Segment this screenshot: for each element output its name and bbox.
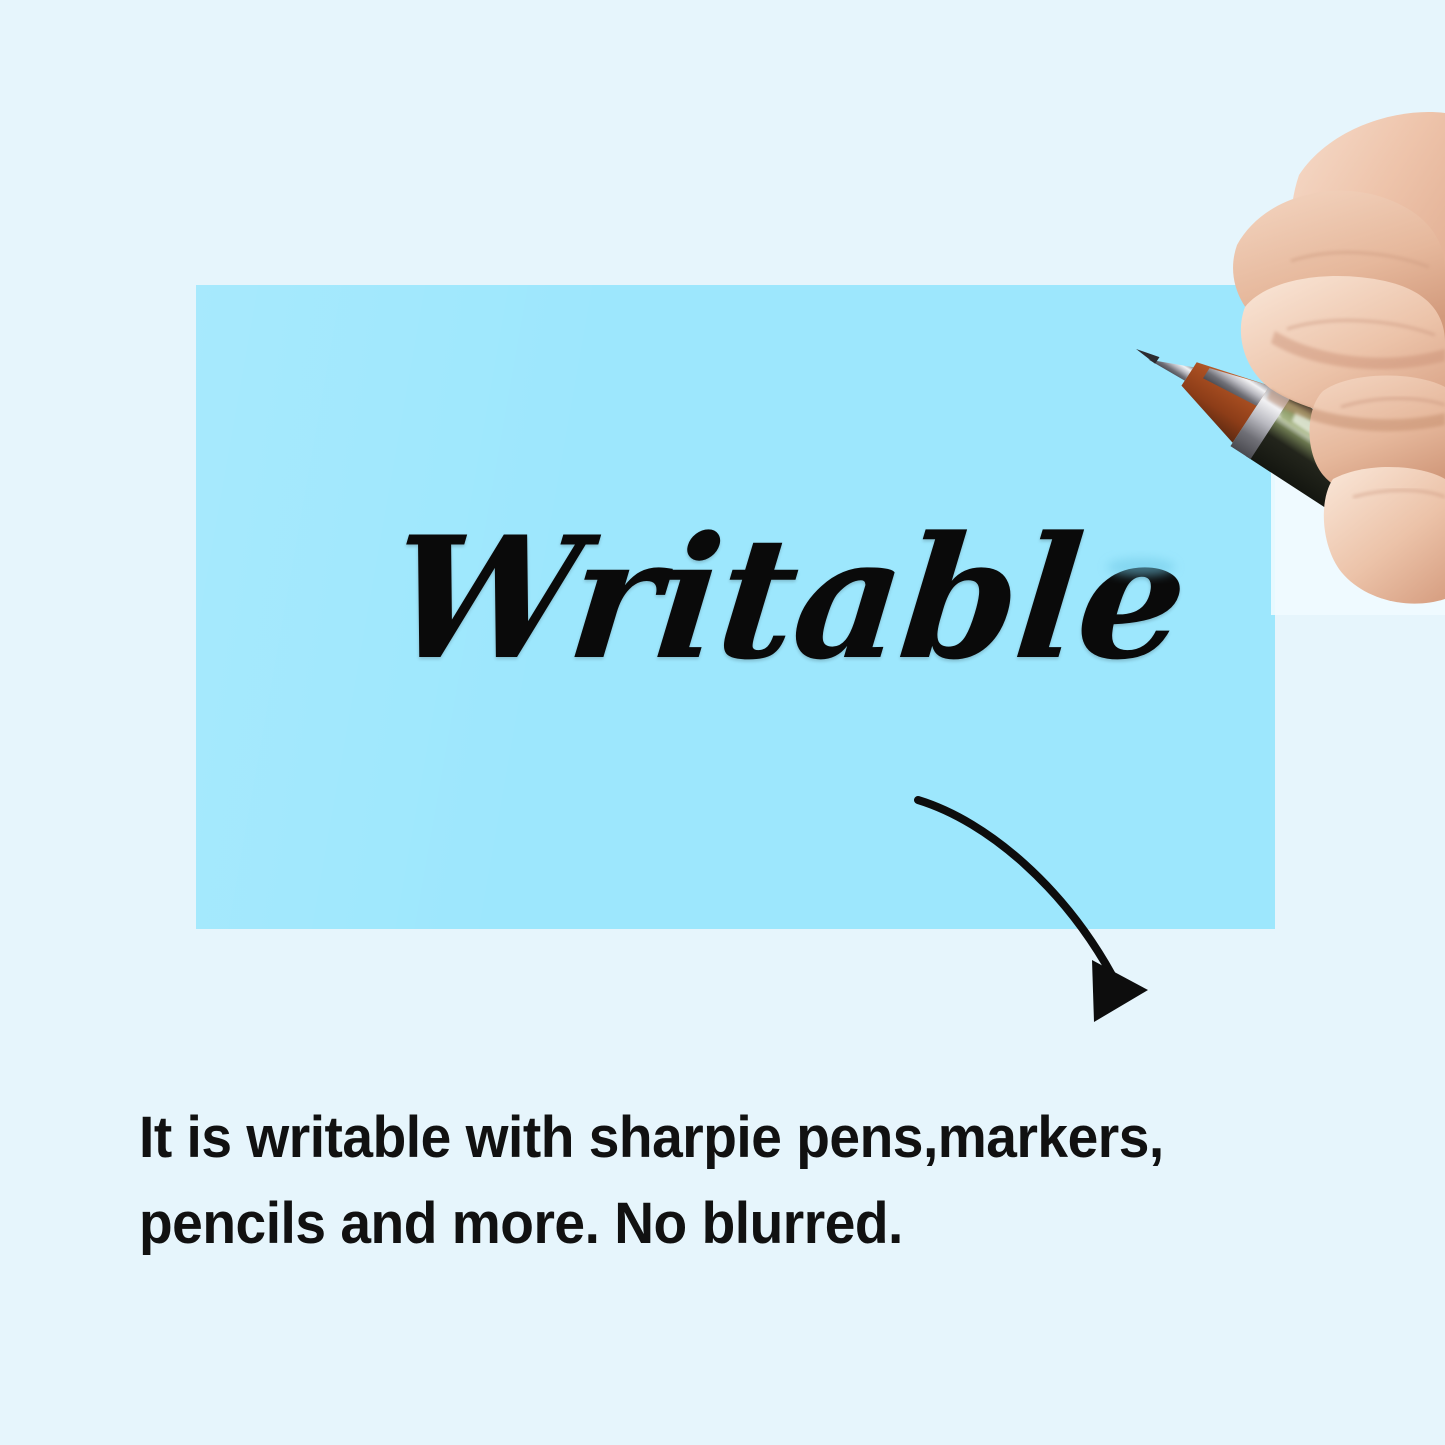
caption-line-2: pencils and more. No blurred. <box>139 1181 1346 1267</box>
product-feature-image: Writable <box>0 0 1445 1445</box>
pen-tip-shadow <box>1107 558 1175 576</box>
curved-arrow-icon <box>880 760 1200 1030</box>
handwritten-word: Writable <box>381 498 1082 698</box>
pen-ball-point <box>1135 344 1159 364</box>
caption-text: It is writable with sharpie pens,markers… <box>139 1095 1346 1267</box>
caption-line-1: It is writable with sharpie pens,markers… <box>139 1095 1346 1181</box>
hand-holding-pen-illustration <box>1085 55 1445 615</box>
